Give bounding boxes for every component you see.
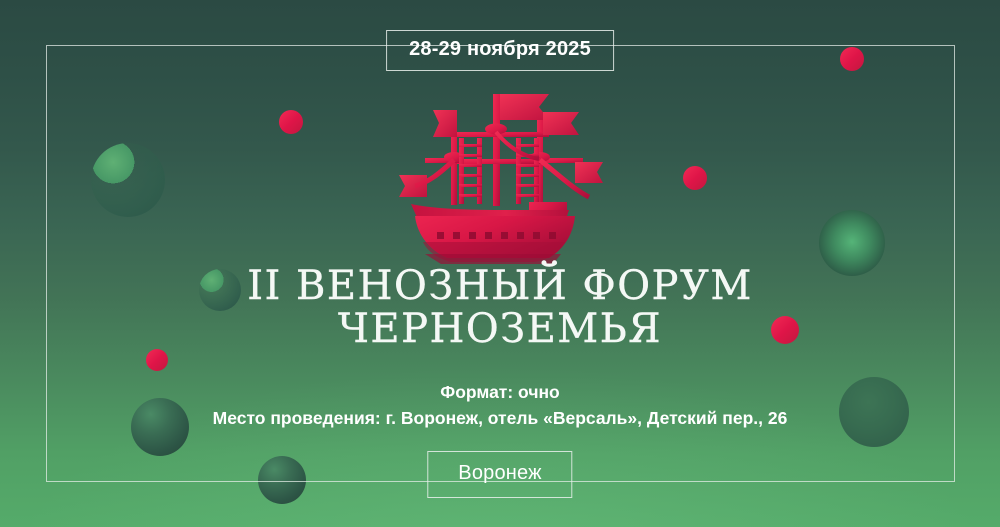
sphere-dark-bottom-left bbox=[258, 456, 306, 504]
sailing-ship-icon bbox=[389, 82, 611, 272]
city-badge: Воронеж bbox=[427, 451, 572, 498]
event-venue: Место проведения: г. Воронеж, отель «Вер… bbox=[0, 405, 1000, 432]
event-format: Формат: очно bbox=[0, 379, 1000, 406]
dot-red-upper-left bbox=[279, 110, 303, 134]
dot-red-top-right bbox=[840, 47, 864, 71]
page-title: II ВЕНОЗНЫЙ ФОРУМ ЧЕРНОЗЕМЬЯ bbox=[0, 265, 1000, 351]
dot-red-mid-right bbox=[683, 166, 707, 190]
poster-canvas: 28-29 ноября 2025 bbox=[0, 0, 1000, 527]
sphere-lit-large-left bbox=[91, 143, 165, 217]
headline-block: II ВЕНОЗНЫЙ ФОРУМ ЧЕРНОЗЕМЬЯ Формат: очн… bbox=[0, 265, 1000, 432]
event-details: Формат: очно Место проведения: г. Вороне… bbox=[0, 379, 1000, 432]
title-line-2: ЧЕРНОЗЕМЬЯ bbox=[0, 308, 1000, 351]
title-line-1: II ВЕНОЗНЫЙ ФОРУМ bbox=[0, 265, 1000, 308]
date-badge: 28-29 ноября 2025 bbox=[386, 30, 614, 71]
